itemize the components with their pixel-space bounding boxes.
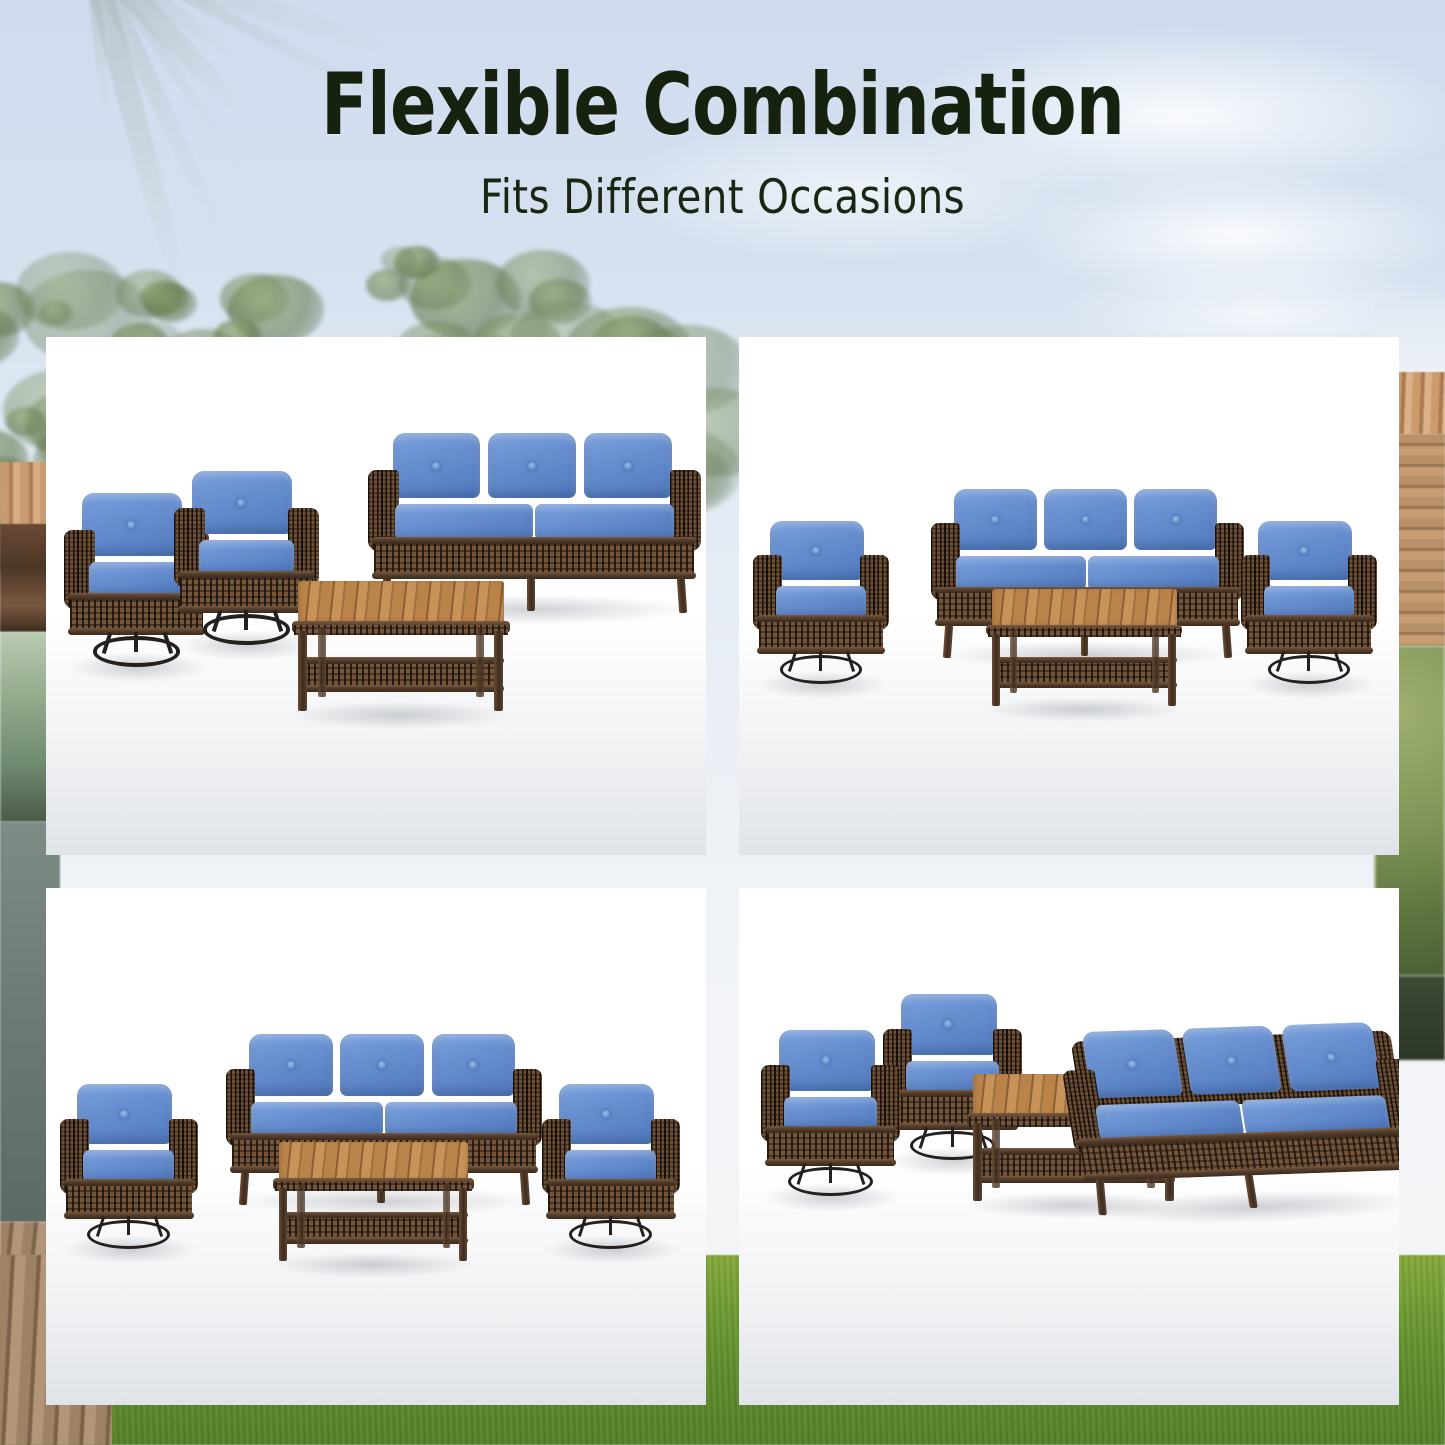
tree-tuft — [0, 429, 29, 492]
table-lower-shelf-weave — [283, 1215, 465, 1239]
table-leg — [443, 1184, 450, 1248]
table-leg — [459, 1188, 467, 1262]
sofa-leg — [238, 1171, 248, 1204]
sofa-leg — [677, 578, 688, 613]
swivel-chair-left[interactable] — [56, 1078, 202, 1262]
cushion-tuft-button — [1172, 516, 1180, 524]
panel-top-left[interactable] — [46, 337, 706, 855]
tree-tuft — [0, 505, 8, 559]
cushion-tuft-button — [602, 1110, 610, 1118]
table-leg — [1152, 630, 1159, 693]
tree-tuft — [0, 456, 42, 524]
sofa-leg — [520, 1171, 530, 1204]
panel-bottom-left[interactable] — [46, 888, 706, 1405]
drop-shadow — [288, 701, 510, 729]
sofa-leg — [527, 578, 535, 611]
tree-tuft — [39, 301, 73, 326]
cushion-tuft-button — [822, 1056, 830, 1064]
chair-top-rail — [64, 1179, 194, 1186]
table-leg — [297, 1184, 304, 1248]
chair-seat-cushion — [784, 1097, 876, 1130]
cushion-tuft-button — [287, 1061, 295, 1069]
cushion-tuft-button — [944, 1020, 952, 1028]
chair-seat-cushion — [199, 540, 295, 575]
chair-top-rail — [546, 1179, 676, 1186]
tree-tuft — [529, 279, 592, 324]
table-leg — [318, 627, 326, 697]
sofa-seat-cushion — [535, 504, 674, 541]
table-lower-shelf-weave — [302, 661, 500, 687]
tree-tuft — [0, 282, 35, 337]
chair-seat-cushion — [1264, 586, 1354, 619]
chair-apron-weave — [1247, 619, 1372, 652]
chair-apron-weave — [548, 1183, 674, 1216]
coffee-table[interactable] — [284, 577, 514, 727]
swivel-base-leg — [609, 1216, 612, 1235]
table-leg — [476, 627, 484, 697]
swivel-base-leg — [1307, 651, 1310, 670]
swivel-chair-left[interactable] — [749, 515, 893, 697]
tree-tuft — [16, 252, 125, 330]
tree-tuft — [140, 281, 187, 315]
chair-apron-weave — [767, 1130, 894, 1163]
sofa-seat-cushion — [395, 504, 534, 541]
tree-tuft — [116, 270, 183, 318]
cushion-tuft-button — [120, 1110, 128, 1118]
swivel-base-leg — [829, 1163, 832, 1183]
table-shelf-rail — [298, 685, 504, 692]
swivel-base-leg — [244, 610, 248, 630]
sofa-seat-cushion — [251, 1102, 383, 1137]
tree-tuft — [6, 407, 46, 436]
table-shelf-rail — [279, 1212, 469, 1218]
chair-seat-cushion — [776, 586, 866, 619]
table-leg — [992, 634, 1000, 706]
sofa-top-rail — [372, 537, 696, 544]
chair-seat-cushion — [565, 1150, 656, 1183]
table-leg — [279, 1188, 287, 1262]
tree-tuft — [366, 269, 410, 301]
swivel-base-leg — [951, 1127, 954, 1147]
sofa-leg — [1222, 625, 1232, 658]
chair-top-rail — [765, 1126, 896, 1133]
tree-tuft — [220, 274, 289, 324]
panel-bottom-right[interactable] — [739, 888, 1399, 1405]
table-leg — [973, 1123, 982, 1201]
chair-apron-weave — [66, 1183, 192, 1216]
table-shelf-rail — [279, 1237, 469, 1243]
page-subtitle: Fits Different Occasions — [101, 170, 1344, 225]
page-title: Flexible Combination — [145, 62, 1301, 150]
coffee-table[interactable] — [979, 585, 1186, 720]
drop-shadow — [983, 697, 1183, 722]
chair-seat-cushion — [83, 1150, 174, 1183]
panel-grid — [46, 337, 1399, 1405]
swivel-base-leg — [134, 632, 138, 652]
tree-tuft — [394, 246, 440, 279]
swivel-chair-right[interactable] — [538, 1078, 684, 1262]
table-wood-slat-top — [992, 589, 1177, 630]
cushion-tuft-button — [469, 1061, 477, 1069]
swivel-chair-right[interactable] — [1237, 515, 1381, 697]
sofa-apron-weave — [374, 541, 694, 576]
tree-tuft — [381, 247, 417, 273]
promo-banner: Flexible Combination Fits Different Occa… — [0, 0, 1445, 1445]
tree-tuft — [410, 259, 521, 339]
table-leg — [1010, 630, 1017, 693]
panel-top-right[interactable] — [739, 337, 1399, 855]
cushion-tuft-button — [624, 462, 632, 470]
table-shelf-rail — [298, 657, 504, 664]
table-leg — [1168, 634, 1176, 706]
tree-tuft — [0, 305, 19, 367]
table-lower-shelf-weave — [995, 661, 1173, 684]
table-leg — [494, 631, 503, 711]
table-leg — [992, 1119, 1000, 1188]
coffee-table[interactable] — [266, 1138, 478, 1276]
chair-apron-weave — [759, 619, 884, 652]
swivel-base-leg — [819, 651, 822, 670]
tree-tuft — [399, 258, 472, 310]
three-seat-sofa-angled[interactable] — [1053, 1017, 1399, 1226]
cushion-tuft-button — [378, 1061, 386, 1069]
drop-shadow — [270, 1252, 474, 1278]
chair-top-rail — [757, 615, 886, 622]
table-leg — [298, 631, 307, 711]
swivel-chair-front-left[interactable] — [757, 1024, 904, 1210]
tree-tuft — [146, 285, 197, 322]
chair-top-rail — [1245, 615, 1374, 622]
table-shelf-rail — [992, 682, 1177, 688]
tree-tuft — [228, 275, 324, 344]
table-shelf-rail — [992, 657, 1177, 663]
tree-tuft — [0, 497, 48, 579]
swivel-base-leg — [127, 1216, 130, 1235]
sofa-seat-cushion — [385, 1102, 517, 1137]
header-block: Flexible Combination Fits Different Occa… — [0, 0, 1445, 225]
cushion-tuft-button — [1127, 1060, 1137, 1069]
tree-tuft — [496, 250, 591, 318]
